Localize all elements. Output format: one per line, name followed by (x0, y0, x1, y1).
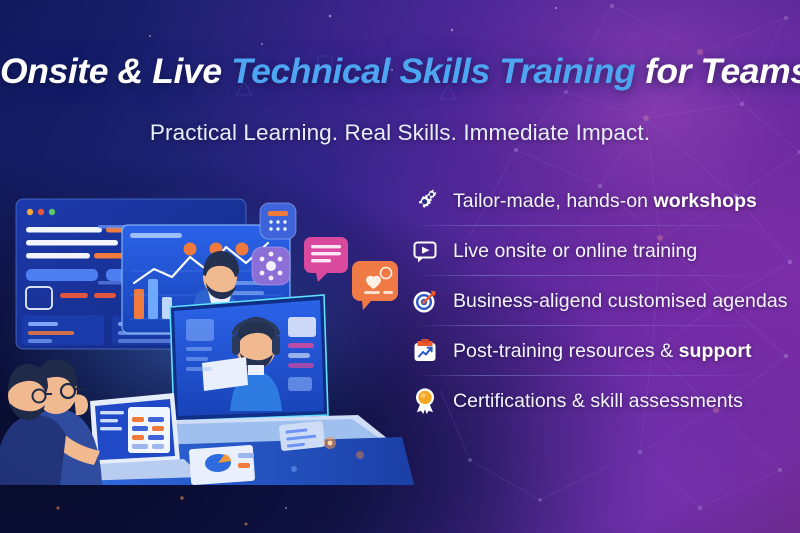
feature-label: Tailor-made, hands-on workshops (453, 190, 757, 212)
floating-network-card (252, 247, 290, 285)
feature-label: Certifications & skill assessments (453, 390, 743, 412)
training-banner: Onsite & Live Technical Skills Training … (0, 0, 800, 533)
feature-item-workshops: Tailor-made, hands-on workshops (410, 176, 798, 226)
headline-trail: for Teams (635, 51, 800, 91)
feature-item-agendas: Business-aligend customised agendas (410, 276, 798, 326)
page-title: Onsite & Live Technical Skills Training … (0, 54, 800, 90)
feature-item-certifications: Certifications & skill assessments (410, 376, 798, 426)
feature-item-live-training: Live onsite or online training (410, 226, 798, 276)
video-chat-play-icon (410, 236, 440, 266)
feature-list: Tailor-made, hands-on workshops Live ons… (410, 176, 798, 426)
floating-calendar-card (260, 203, 296, 239)
headline-lead: Onsite & Live (0, 51, 231, 91)
feature-item-post-training: Post-training resources & support (410, 326, 798, 376)
feature-label: Business-aligend customised agendas (453, 290, 788, 312)
target-dart-icon (410, 286, 440, 316)
gears-icon (410, 186, 440, 216)
headline-accent: Technical Skills Training (231, 51, 635, 91)
page-subtitle: Practical Learning. Real Skills. Immedia… (0, 122, 800, 145)
clipboard-chart-icon (410, 336, 440, 366)
award-medal-icon (410, 386, 440, 416)
training-scene-illustration (0, 185, 414, 485)
feature-label: Post-training resources & support (453, 340, 752, 362)
feature-label: Live onsite or online training (453, 240, 697, 262)
desk-documents (189, 445, 255, 485)
desk-phone (279, 421, 325, 451)
